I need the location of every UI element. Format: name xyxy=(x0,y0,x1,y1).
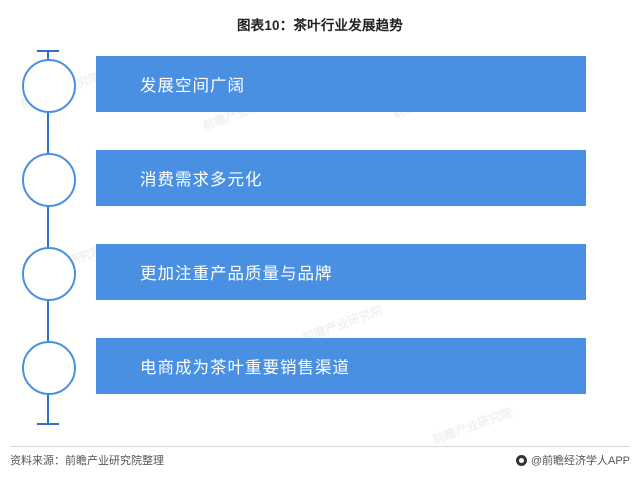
trend-label: 消费需求多元化 xyxy=(96,166,263,190)
brand-credit: @前瞻经济学人APP xyxy=(516,452,630,468)
trend-label: 更加注重产品质量与品牌 xyxy=(96,260,333,284)
trend-bar[interactable]: 电商成为茶叶重要销售渠道 xyxy=(96,338,586,394)
trend-node-circle xyxy=(22,341,76,395)
trend-node-circle xyxy=(22,153,76,207)
chart-page: 图表10：茶叶行业发展趋势 前瞻产业研究院 前瞻产业研究院 前瞻产业研究院 前瞻… xyxy=(0,0,640,480)
trend-flow-diagram: 发展空间广阔 消费需求多元化 更加注重产品质量与品牌 电商成为茶叶重要销售渠道 xyxy=(0,34,640,434)
brand-credit-label: @前瞻经济学人APP xyxy=(531,452,630,468)
list-item[interactable]: 更加注重产品质量与品牌 xyxy=(0,244,640,310)
list-item[interactable]: 消费需求多元化 xyxy=(0,150,640,216)
trend-bar[interactable]: 更加注重产品质量与品牌 xyxy=(96,244,586,300)
brand-logo-icon xyxy=(516,455,527,466)
trend-label: 电商成为茶叶重要销售渠道 xyxy=(96,354,350,378)
source-note: 资料来源：前瞻产业研究院整理 xyxy=(10,452,164,468)
trend-label: 发展空间广阔 xyxy=(96,72,245,96)
list-item[interactable]: 电商成为茶叶重要销售渠道 xyxy=(0,338,640,404)
trend-node-circle xyxy=(22,247,76,301)
trend-bar[interactable]: 消费需求多元化 xyxy=(96,150,586,206)
page-title: 图表10：茶叶行业发展趋势 xyxy=(0,14,640,34)
flow-spine-cap-bottom xyxy=(37,423,59,425)
flow-spine-cap-top xyxy=(37,50,59,52)
list-item[interactable]: 发展空间广阔 xyxy=(0,56,640,122)
trend-bar[interactable]: 发展空间广阔 xyxy=(96,56,586,112)
footer-divider xyxy=(10,446,630,447)
trend-node-circle xyxy=(22,59,76,113)
